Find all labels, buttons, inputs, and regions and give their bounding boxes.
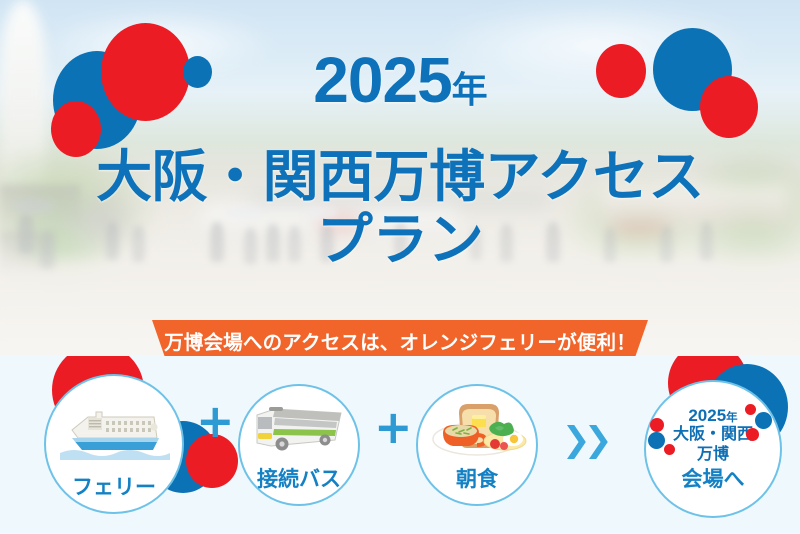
step-circle-breakfast[interactable]: 朝食 (416, 384, 538, 506)
plus-icon-1: + (196, 398, 235, 444)
ribbon-text: 万博会場へのアクセスは、オレンジフェリーが便利！ (164, 326, 636, 355)
year-number: 2025 (313, 44, 451, 116)
goal-year-suffix: 年 (726, 412, 738, 424)
logo-dot-red (746, 428, 759, 441)
highlight-ribbon: 万博会場へのアクセスは、オレンジフェリーが便利！ (152, 320, 648, 360)
breakfast-icon (418, 394, 536, 462)
year-heading: 2025年 (0, 48, 800, 112)
step-label-breakfast: 朝食 (456, 469, 498, 504)
logo-dot-red (664, 444, 675, 455)
logo-dot-blue (648, 432, 665, 449)
goal-destination: 会場へ (682, 468, 745, 491)
goal-year: 2025年 (688, 407, 737, 426)
double-chevron-right-icon (567, 425, 609, 459)
goal-year-number: 2025 (688, 406, 726, 425)
step-label-ferry: フェリー (72, 477, 156, 512)
logo-dot-red (650, 418, 664, 432)
year-suffix: 年 (452, 69, 487, 110)
step-circle-bus[interactable]: 接続バス (238, 384, 360, 506)
expo-access-plan-banner: 2025年 大阪・関西万博アクセス プラン 万博会場へのアクセスは、オレンジフェ… (0, 0, 800, 534)
title-line-2: プラン (0, 211, 800, 268)
page-title: 大阪・関西万博アクセス プラン (0, 148, 800, 268)
plus-icon-2: + (374, 404, 413, 450)
step-label-bus: 接続バス (257, 469, 341, 504)
bus-icon (240, 396, 358, 460)
title-line-1: 大阪・関西万博アクセス (96, 145, 704, 208)
logo-dot-blue (755, 412, 772, 429)
chevron-right-icon (567, 425, 587, 459)
goal-name-2: 万博 (697, 446, 729, 465)
step-circle-ferry[interactable]: フェリー (44, 374, 184, 514)
goal-name: 大阪・関西 (673, 426, 753, 445)
ferry-ship-icon (46, 390, 182, 468)
chevron-right-icon (589, 425, 609, 459)
logo-dot-red (745, 404, 756, 415)
